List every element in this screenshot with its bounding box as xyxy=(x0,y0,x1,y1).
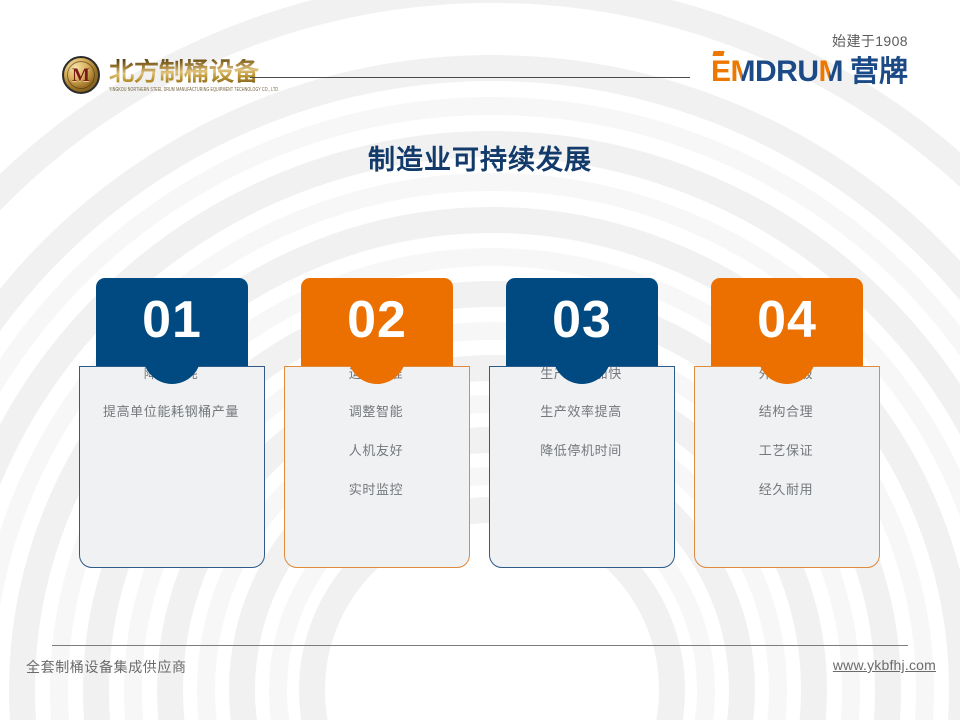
founded-year-label: 始建于1908 xyxy=(711,34,908,48)
seal-letter: M xyxy=(72,66,90,85)
brand-letter-m2: M xyxy=(818,57,843,87)
company-wordmark: 北方制桶设备 YINGKOU NORTHERN STEEL DRUM MANUF… xyxy=(109,59,278,92)
footer-divider xyxy=(52,645,908,646)
cards-row: 01 节能 降低能耗 提高单位能耗钢桶产量 02 智能 运动精准 调整智能 人机… xyxy=(78,278,890,570)
card-04[interactable]: 04 品质 外观升级 结构合理 工艺保证 经久耐用 xyxy=(693,278,881,570)
slide-header: M 北方制桶设备 YINGKOU NORTHERN STEEL DRUM MAN… xyxy=(0,0,960,112)
card-number: 03 xyxy=(552,294,612,346)
brand-letter-m1: M xyxy=(730,57,755,87)
footer-website-link[interactable]: www.ykbfhj.com xyxy=(833,657,936,673)
brand-logo-right[interactable]: 始建于1908 E M DRU M 营牌 xyxy=(711,34,908,87)
card-item: 实时监控 xyxy=(283,482,469,499)
card-number: 04 xyxy=(757,294,817,346)
header-divider xyxy=(250,77,690,78)
card-03[interactable]: 03 高效 生产节拍加快 生产效率提高 降低停机时间 xyxy=(488,278,676,570)
brand-letters-drum: DRU xyxy=(755,57,819,87)
card-item: 降低停机时间 xyxy=(488,443,674,460)
card-item: 工艺保证 xyxy=(693,443,879,460)
card-item: 人机友好 xyxy=(283,443,469,460)
company-seal-icon: M xyxy=(62,56,100,94)
company-logo-left[interactable]: M 北方制桶设备 YINGKOU NORTHERN STEEL DRUM MAN… xyxy=(62,56,278,94)
page-title: 制造业可持续发展 xyxy=(0,138,960,177)
card-01[interactable]: 01 节能 降低能耗 提高单位能耗钢桶产量 xyxy=(78,278,266,570)
card-item: 调整智能 xyxy=(283,404,469,421)
footer-tagline: 全套制桶设备集成供应商 xyxy=(26,657,187,677)
brand-wordmark: E M DRU M 营牌 xyxy=(711,57,908,87)
card-number: 01 xyxy=(142,294,202,346)
card-item: 经久耐用 xyxy=(693,482,879,499)
brand-name-cn: 营牌 xyxy=(850,58,908,87)
card-item: 结构合理 xyxy=(693,404,879,421)
card-item: 生产效率提高 xyxy=(488,404,674,421)
company-name-cn: 北方制桶设备 xyxy=(109,59,278,85)
card-number: 02 xyxy=(347,294,407,346)
card-02[interactable]: 02 智能 运动精准 调整智能 人机友好 实时监控 xyxy=(283,278,471,570)
brand-letter-e: E xyxy=(711,57,731,87)
slide-root: M 北方制桶设备 YINGKOU NORTHERN STEEL DRUM MAN… xyxy=(0,0,960,720)
company-name-en: YINGKOU NORTHERN STEEL DRUM MANUFACTURIN… xyxy=(109,86,278,95)
card-item: 提高单位能耗钢桶产量 xyxy=(78,404,264,421)
